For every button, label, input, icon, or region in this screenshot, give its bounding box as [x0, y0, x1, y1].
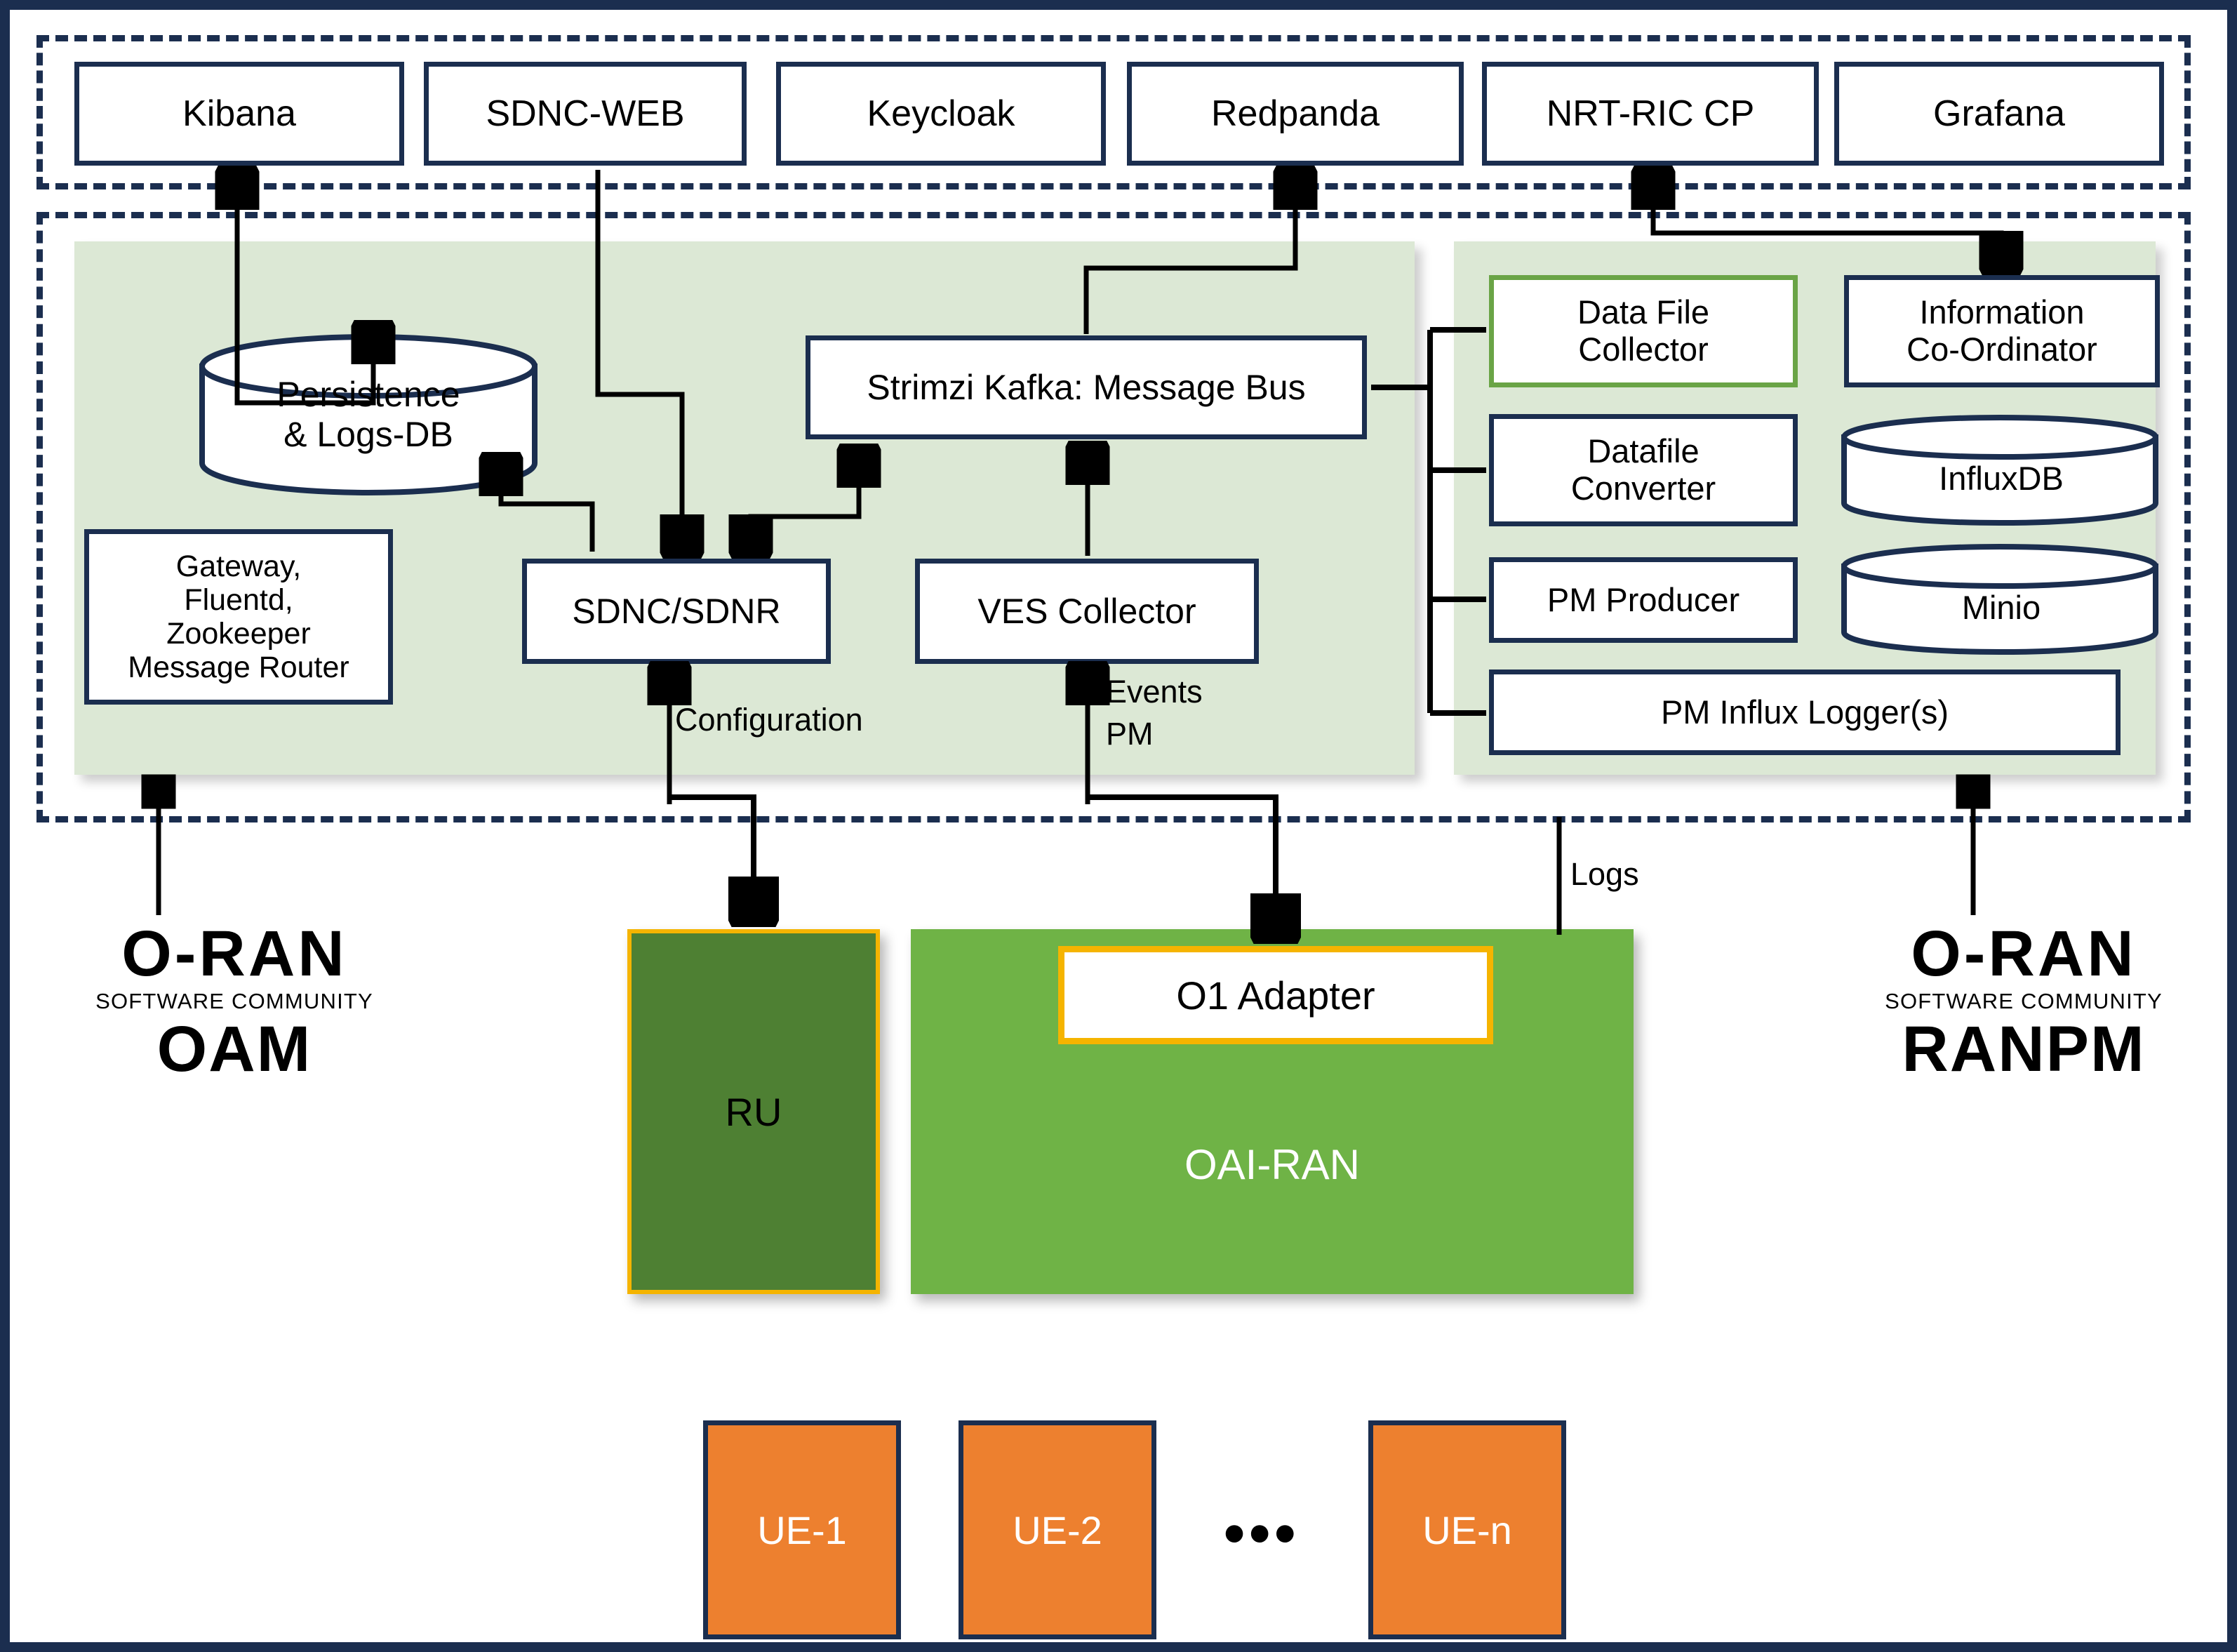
pm-influx-logger-box[interactable]: PM Influx Logger(s): [1489, 670, 2121, 755]
ue-ellipsis: •••: [1224, 1503, 1300, 1564]
oai-ran-label: OAI-RAN: [1184, 1140, 1360, 1189]
app-label: Grafana: [1933, 93, 2065, 134]
logo-brand: O-RAN: [1911, 922, 2137, 985]
edge-label-configuration: Configuration: [675, 701, 863, 738]
app-box-sdnc-web[interactable]: SDNC-WEB: [424, 62, 747, 166]
ue-label: UE-2: [1013, 1507, 1102, 1553]
cylinder-shape: [1840, 543, 2163, 655]
datafile-converter-box[interactable]: Datafile Converter: [1489, 414, 1798, 526]
ico-line2: Co-Ordinator: [1907, 331, 2097, 368]
logo-project: RANPM: [1902, 1015, 2145, 1084]
sdnc-sdnr-box[interactable]: SDNC/SDNR: [522, 559, 831, 664]
diagram-canvas: Kibana SDNC-WEB Keycloak Redpanda NRT-RI…: [0, 0, 2237, 1652]
app-label: SDNC-WEB: [486, 93, 684, 134]
information-coordinator-box[interactable]: Information Co-Ordinator: [1844, 275, 2160, 387]
ves-collector-box[interactable]: VES Collector: [915, 559, 1259, 664]
ru-label: RU: [726, 1089, 782, 1135]
ue-block-2[interactable]: UE-2: [959, 1420, 1156, 1639]
gateway-line1: Gateway,: [176, 549, 301, 583]
kafka-label: Strimzi Kafka: Message Bus: [867, 368, 1305, 407]
ue-block-1[interactable]: UE-1: [703, 1420, 901, 1639]
pm-producer-box[interactable]: PM Producer: [1489, 557, 1798, 643]
dfc-line1: Data File: [1577, 294, 1709, 331]
ue-label: UE-1: [757, 1507, 847, 1553]
app-box-keycloak[interactable]: Keycloak: [776, 62, 1106, 166]
minio-cylinder[interactable]: Minio: [1840, 543, 2163, 655]
logo-subtitle: SOFTWARE COMMUNITY: [1885, 988, 2163, 1014]
influxdb-cylinder[interactable]: InfluxDB: [1840, 414, 2163, 526]
app-box-redpanda[interactable]: Redpanda: [1127, 62, 1464, 166]
ico-line1: Information: [1919, 294, 2084, 331]
o1-adapter-box[interactable]: O1 Adapter: [1058, 946, 1493, 1044]
edge-label-logs: Logs: [1570, 855, 1639, 893]
app-box-kibana[interactable]: Kibana: [74, 62, 404, 166]
gateway-line2: Fluentd,: [184, 583, 293, 617]
app-label: NRT-RIC CP: [1547, 93, 1755, 134]
edge-label-pm: PM: [1106, 715, 1154, 752]
pmil-label: PM Influx Logger(s): [1661, 694, 1949, 731]
logo-project: OAM: [157, 1015, 312, 1084]
strimzi-kafka-box[interactable]: Strimzi Kafka: Message Bus: [806, 335, 1367, 439]
gateway-fluentd-zookeeper-box[interactable]: Gateway, Fluentd, Zookeeper Message Rout…: [84, 529, 393, 705]
app-label: Kibana: [182, 93, 296, 134]
ue-label: UE-n: [1422, 1507, 1512, 1553]
ru-block[interactable]: RU: [627, 929, 880, 1294]
persistence-logs-db[interactable]: Persistence & Logs-DB: [196, 334, 540, 495]
app-label: Redpanda: [1211, 93, 1380, 134]
data-file-collector-box[interactable]: Data File Collector: [1489, 275, 1798, 387]
logo-oran-ranpm: O-RAN SOFTWARE COMMUNITY RANPM: [1834, 922, 2213, 1084]
app-box-nrt-ric-cp[interactable]: NRT-RIC CP: [1482, 62, 1819, 166]
pmp-label: PM Producer: [1547, 582, 1739, 619]
gateway-line4: Message Router: [128, 651, 349, 684]
logo-subtitle: SOFTWARE COMMUNITY: [95, 988, 373, 1014]
app-box-grafana[interactable]: Grafana: [1834, 62, 2164, 166]
ue-block-n[interactable]: UE-n: [1368, 1420, 1566, 1639]
sdnc-label: SDNC/SDNR: [572, 592, 780, 631]
dfcv-line2: Converter: [1571, 470, 1716, 507]
cylinder-shape: [196, 334, 540, 495]
ves-label: VES Collector: [977, 592, 1196, 631]
dfc-line2: Collector: [1578, 331, 1708, 368]
app-label: Keycloak: [867, 93, 1015, 134]
edge-label-events: Events: [1106, 673, 1203, 710]
logo-brand: O-RAN: [121, 922, 347, 985]
gateway-line3: Zookeeper: [166, 617, 311, 651]
dfcv-line1: Datafile: [1587, 433, 1699, 470]
o1-adapter-label: O1 Adapter: [1176, 973, 1375, 1018]
logo-oran-oam: O-RAN SOFTWARE COMMUNITY OAM: [52, 922, 417, 1084]
cylinder-shape: [1840, 414, 2163, 526]
